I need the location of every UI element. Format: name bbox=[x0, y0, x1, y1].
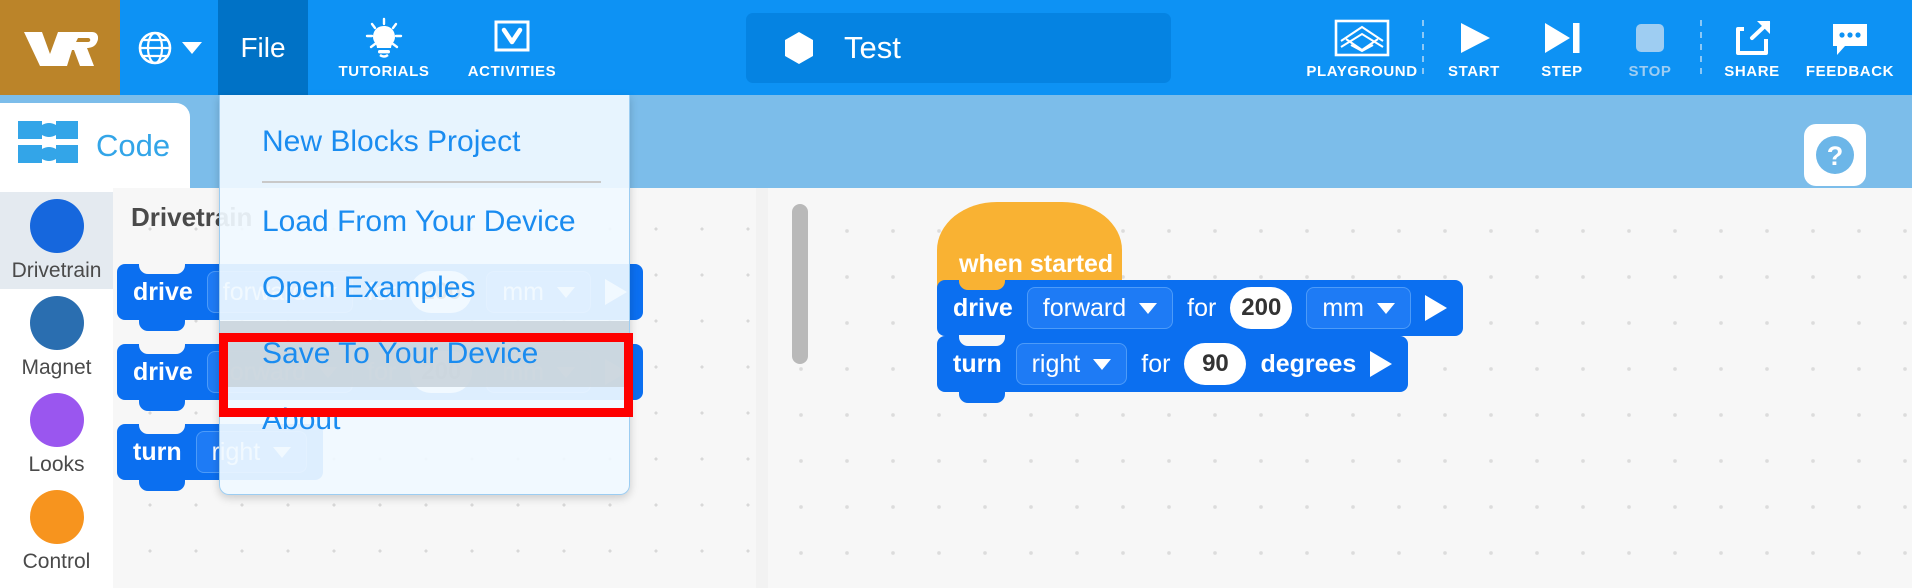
toolbar-item-stop[interactable]: STOP bbox=[1606, 0, 1694, 95]
menu-item-save-to-your-device[interactable]: Save To Your Device bbox=[220, 321, 629, 387]
file-dropdown-menu: New Blocks Project Load From Your Device… bbox=[219, 95, 630, 495]
toolbar-label-step: STEP bbox=[1541, 63, 1583, 80]
sidebar-label-magnet: Magnet bbox=[21, 356, 91, 380]
chevron-down-icon bbox=[1139, 303, 1157, 314]
dropdown-unit[interactable]: mm bbox=[1306, 287, 1411, 329]
drivetrain-color-dot bbox=[30, 199, 84, 253]
workspace-block-drive[interactable]: drive forward for 200 mm bbox=[937, 280, 1463, 336]
menu-item-new-blocks-project[interactable]: New Blocks Project bbox=[220, 109, 629, 175]
toolbar-item-feedback[interactable]: FEEDBACK bbox=[1796, 0, 1904, 95]
toolbar-divider-2 bbox=[1700, 20, 1702, 76]
block-notch bbox=[139, 343, 185, 354]
block-for-label: for bbox=[1141, 350, 1170, 379]
category-sidebar: Drivetrain Magnet Looks Control bbox=[0, 188, 113, 588]
block-notch bbox=[139, 263, 185, 274]
globe-icon bbox=[137, 30, 173, 66]
magnet-color-dot bbox=[30, 296, 84, 350]
step-icon bbox=[1540, 15, 1584, 59]
block-notch-bottom bbox=[959, 391, 1005, 403]
svg-text:?: ? bbox=[1827, 141, 1844, 171]
block-keyword: drive bbox=[953, 294, 1013, 323]
hexagon-icon bbox=[784, 31, 814, 65]
degrees-input[interactable]: 90 bbox=[1184, 343, 1246, 385]
toolbar-group-learn: TUTORIALS ACTIVITIES bbox=[320, 0, 576, 95]
sidebar-label-looks: Looks bbox=[28, 453, 84, 477]
block-notch-bottom bbox=[139, 479, 185, 491]
chevron-down-icon bbox=[182, 42, 202, 54]
block-unit-label: degrees bbox=[1260, 350, 1356, 379]
toolbar-item-start[interactable]: START bbox=[1430, 0, 1518, 95]
sidebar-item-drivetrain[interactable]: Drivetrain bbox=[0, 192, 113, 289]
feedback-comment-icon bbox=[1828, 15, 1872, 59]
toolbar-label-feedback: FEEDBACK bbox=[1806, 63, 1894, 80]
block-keyword: drive bbox=[133, 278, 193, 307]
share-icon bbox=[1731, 15, 1773, 59]
activities-inbox-icon bbox=[491, 15, 533, 59]
blocks-icon bbox=[16, 117, 82, 175]
block-keyword: turn bbox=[133, 438, 182, 467]
vr-logo[interactable] bbox=[0, 0, 120, 95]
toolbar-center: Test bbox=[576, 0, 1308, 95]
menu-item-about[interactable]: About bbox=[220, 387, 629, 453]
sidebar-item-control[interactable]: Control bbox=[0, 483, 113, 580]
toolbar-right-group: PLAYGROUND START STEP STOP bbox=[1308, 0, 1912, 95]
hat-block-label: when started bbox=[959, 250, 1113, 279]
question-mark-icon: ? bbox=[1812, 132, 1858, 178]
toolbar-item-share[interactable]: SHARE bbox=[1708, 0, 1796, 95]
toolbar-label-start: START bbox=[1448, 63, 1500, 80]
code-workspace[interactable]: when started drive forward for 200 mm bbox=[768, 188, 1912, 588]
toolbar-item-tutorials[interactable]: TUTORIALS bbox=[320, 0, 448, 95]
chevron-down-icon bbox=[1377, 303, 1395, 314]
toolbar-label-playground: PLAYGROUND bbox=[1306, 63, 1417, 80]
block-notch-bottom bbox=[139, 399, 185, 411]
menu-item-open-examples[interactable]: Open Examples bbox=[220, 255, 629, 321]
toolbar-item-step[interactable]: STEP bbox=[1518, 0, 1606, 95]
stop-square-icon bbox=[1630, 15, 1670, 59]
vertical-scrollbar[interactable] bbox=[792, 204, 808, 364]
toolbar-label-tutorials: TUTORIALS bbox=[339, 63, 430, 80]
sidebar-item-magnet[interactable]: Magnet bbox=[0, 289, 113, 386]
play-icon[interactable] bbox=[1370, 351, 1392, 377]
project-name-field[interactable]: Test bbox=[746, 13, 1171, 83]
sidebar-item-looks[interactable]: Looks bbox=[0, 386, 113, 483]
block-keyword: drive bbox=[133, 358, 193, 387]
tab-code[interactable]: Code bbox=[0, 103, 190, 188]
dropdown-unit-value: mm bbox=[1322, 294, 1364, 323]
block-notch-bottom bbox=[139, 319, 185, 331]
menu-item-load-from-your-device[interactable]: Load From Your Device bbox=[220, 189, 629, 255]
chevron-down-icon bbox=[1093, 359, 1111, 370]
toolbar-label-stop: STOP bbox=[1629, 63, 1672, 80]
project-title: Test bbox=[844, 30, 901, 66]
play-icon bbox=[1454, 15, 1494, 59]
file-menu-button[interactable]: File bbox=[218, 0, 308, 95]
playground-icon bbox=[1333, 15, 1391, 59]
block-notch bbox=[139, 423, 185, 434]
dropdown-direction-value: right bbox=[1032, 350, 1081, 379]
help-button[interactable]: ? bbox=[1804, 124, 1866, 186]
palette-scrollbar[interactable] bbox=[756, 188, 768, 588]
control-color-dot bbox=[30, 490, 84, 544]
tab-code-label: Code bbox=[96, 128, 170, 164]
toolbar-item-activities[interactable]: ACTIVITIES bbox=[448, 0, 576, 95]
block-notch bbox=[959, 335, 1005, 346]
menu-divider bbox=[262, 181, 601, 183]
block-notch bbox=[959, 279, 1005, 290]
top-toolbar: File TU bbox=[0, 0, 1912, 95]
toolbar-divider bbox=[1422, 20, 1424, 76]
dropdown-direction[interactable]: forward bbox=[1027, 287, 1173, 329]
distance-input[interactable]: 200 bbox=[1230, 287, 1292, 329]
looks-color-dot bbox=[30, 393, 84, 447]
play-icon[interactable] bbox=[1425, 295, 1447, 321]
toolbar-label-activities: ACTIVITIES bbox=[468, 63, 557, 80]
toolbar-item-playground[interactable]: PLAYGROUND bbox=[1308, 0, 1416, 95]
sidebar-label-control: Control bbox=[23, 550, 91, 574]
toolbar-label-share: SHARE bbox=[1724, 63, 1780, 80]
dropdown-direction-value: forward bbox=[1043, 294, 1126, 323]
workspace-block-turn[interactable]: turn right for 90 degrees bbox=[937, 336, 1408, 392]
language-selector[interactable] bbox=[120, 0, 218, 95]
vr-logo-icon bbox=[22, 28, 98, 68]
sidebar-label-drivetrain: Drivetrain bbox=[12, 259, 102, 283]
dropdown-direction[interactable]: right bbox=[1016, 343, 1128, 385]
block-for-label: for bbox=[1187, 294, 1216, 323]
block-keyword: turn bbox=[953, 350, 1002, 379]
lightbulb-icon bbox=[364, 15, 404, 59]
